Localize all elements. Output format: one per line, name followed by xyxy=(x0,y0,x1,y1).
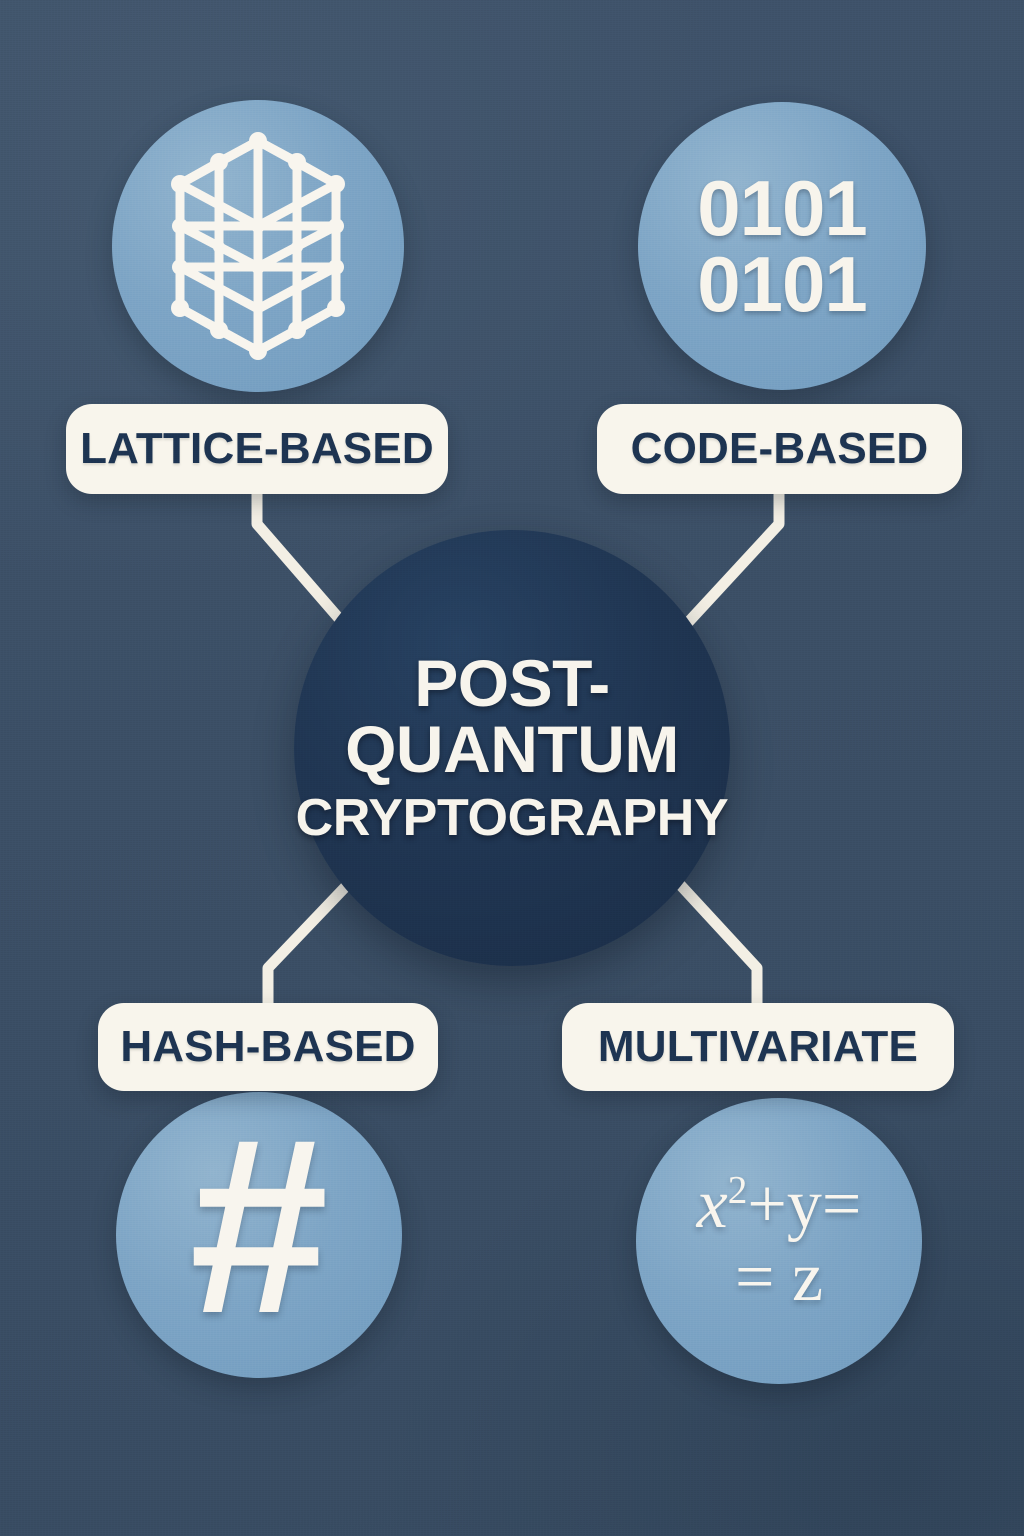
label-pill-code-based[interactable]: CODE-BASED xyxy=(597,404,962,494)
icon-circle-multivariate[interactable]: x2+y= = z xyxy=(636,1098,922,1384)
label-text-code-based: CODE-BASED xyxy=(631,424,929,474)
icon-circle-lattice[interactable] xyxy=(112,100,404,392)
lattice-grid-icon xyxy=(143,131,373,361)
equation-exponent: 2 xyxy=(728,1168,748,1211)
equation-line-2: = z xyxy=(697,1242,862,1313)
equation-icon: x2+y= = z xyxy=(683,1169,876,1314)
label-pill-lattice-based[interactable]: LATTICE-BASED xyxy=(66,404,448,494)
equation-rest: +y= xyxy=(747,1166,861,1243)
binary-digits-icon: 0101 0101 xyxy=(697,170,867,323)
binary-line-1: 0101 xyxy=(697,170,867,246)
binary-line-2: 0101 xyxy=(697,246,867,322)
label-text-lattice-based: LATTICE-BASED xyxy=(80,424,434,474)
hub-title-line-3: CRYPTOGRAPHY xyxy=(296,792,729,845)
infographic-canvas: 0101 0101 # x2+y= = z POST- QUANTUM CRYP… xyxy=(0,0,1024,1536)
icon-circle-hash[interactable]: # xyxy=(116,1092,402,1378)
hub-title-line-1: POST- xyxy=(414,651,610,716)
label-text-multivariate: MULTIVARIATE xyxy=(598,1022,918,1072)
hash-symbol-icon: # xyxy=(189,1101,328,1351)
equation-base: x xyxy=(697,1166,728,1243)
label-pill-hash-based[interactable]: HASH-BASED xyxy=(98,1003,438,1091)
center-hub[interactable]: POST- QUANTUM CRYPTOGRAPHY xyxy=(294,530,730,966)
icon-circle-binary[interactable]: 0101 0101 xyxy=(638,102,926,390)
hub-title-line-2: QUANTUM xyxy=(345,717,679,782)
label-pill-multivariate[interactable]: MULTIVARIATE xyxy=(562,1003,954,1091)
label-text-hash-based: HASH-BASED xyxy=(120,1022,415,1072)
